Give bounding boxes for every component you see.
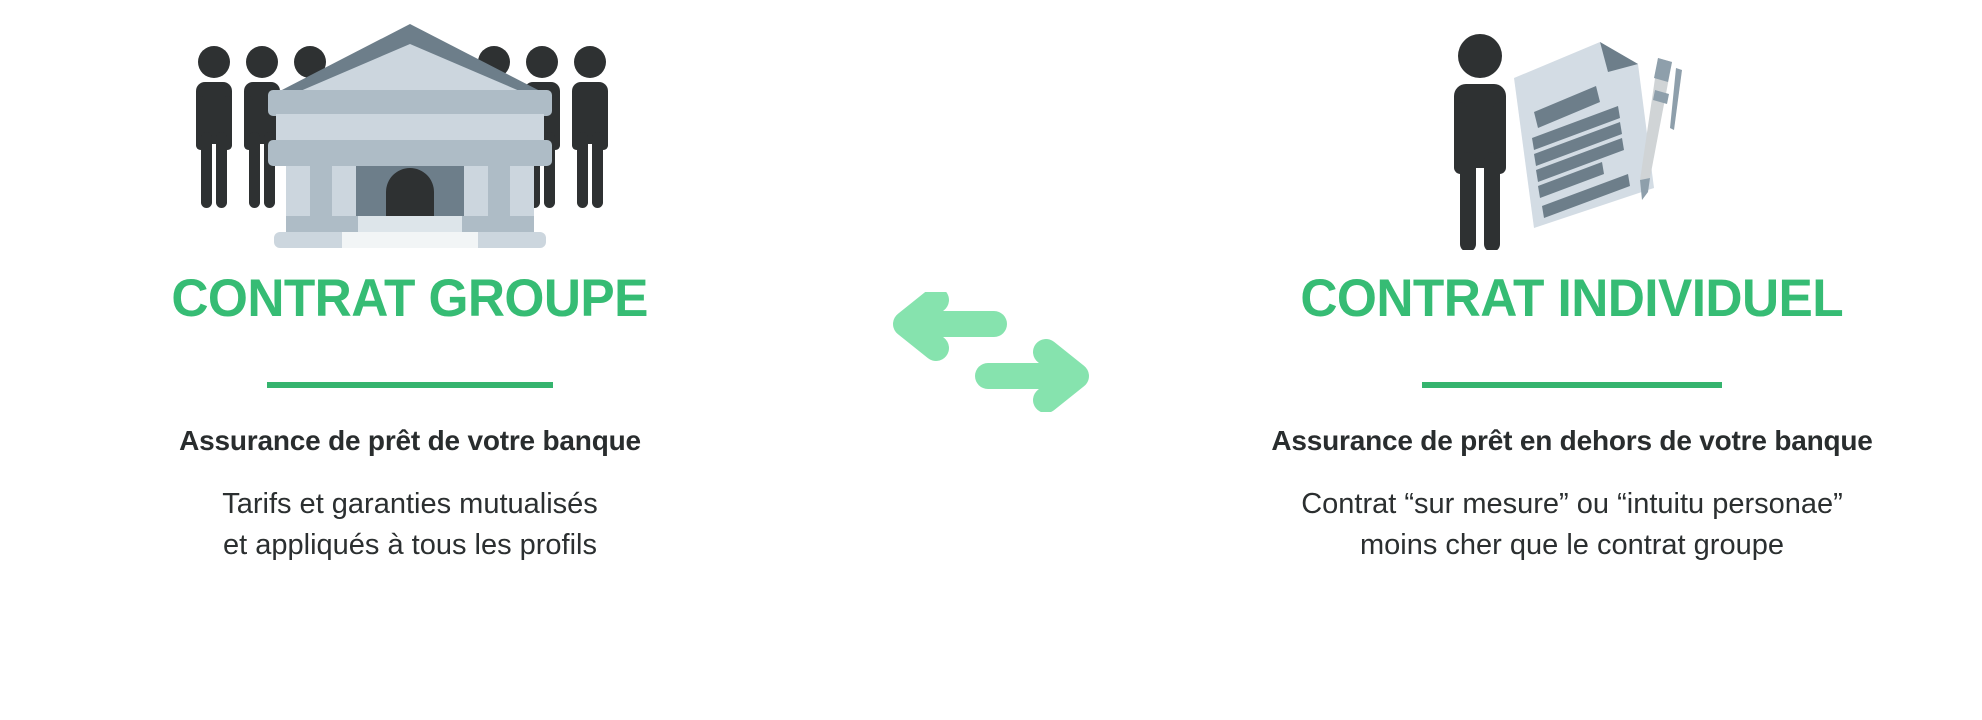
divider-container-left	[267, 346, 553, 424]
comparison-infographic: CONTRAT GROUPE Assurance de prêt de votr…	[0, 0, 1982, 720]
arrow-right-icon	[988, 352, 1076, 400]
bank-with-people-illustration	[0, 0, 820, 250]
column-title-contrat-individuel: CONTRAT INDIVIDUEL	[1301, 272, 1844, 325]
title-container-left: CONTRAT GROUPE	[164, 250, 655, 346]
person-with-contract-icon	[1422, 20, 1722, 250]
left-right-arrows-container	[876, 292, 1106, 412]
person-figure	[244, 46, 280, 208]
person-figure	[196, 46, 232, 208]
column-body-contrat-groupe: Tarifs et garanties mutualisés et appliq…	[222, 484, 598, 566]
contract-document-icon	[1514, 42, 1654, 228]
title-container-right: CONTRAT INDIVIDUEL	[1292, 250, 1851, 346]
person-figure	[1454, 34, 1506, 250]
comparison-column-contrat-individuel: CONTRAT INDIVIDUEL Assurance de prêt en …	[1162, 0, 1982, 720]
column-body-contrat-individuel: Contrat “sur mesure” ou “intuitu persona…	[1301, 484, 1843, 566]
divider-container-right	[1422, 346, 1722, 424]
title-divider	[1422, 382, 1722, 388]
title-divider	[267, 382, 553, 388]
comparison-column-contrat-groupe: CONTRAT GROUPE Assurance de prêt de votr…	[0, 0, 820, 720]
person-with-contract-illustration	[1162, 0, 1982, 250]
person-figure	[572, 46, 608, 208]
column-subtitle-contrat-individuel: Assurance de prêt en dehors de votre ban…	[1271, 424, 1872, 458]
column-subtitle-contrat-groupe: Assurance de prêt de votre banque	[179, 424, 641, 458]
bank-with-people-icon	[190, 20, 630, 250]
arrow-left-icon	[906, 300, 994, 348]
column-title-contrat-groupe: CONTRAT GROUPE	[172, 272, 648, 325]
left-right-arrows-icon	[876, 292, 1106, 412]
